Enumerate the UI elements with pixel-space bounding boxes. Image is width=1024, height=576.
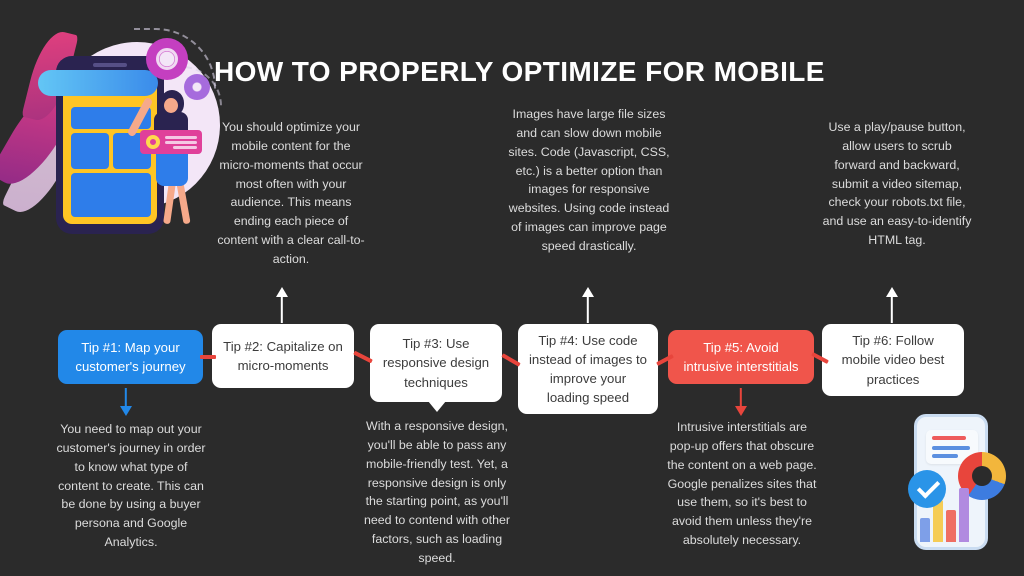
- arrow-head: [582, 287, 594, 297]
- card-line: [932, 454, 958, 458]
- tip-box-5[interactable]: Tip #5: Avoid intrusive interstitials: [668, 330, 814, 384]
- card-line: [165, 141, 197, 144]
- person-face: [164, 98, 178, 113]
- arrow-shaft: [125, 388, 127, 408]
- arrow-head: [120, 406, 132, 416]
- arrow-head: [886, 287, 898, 297]
- arrow-shaft: [587, 295, 589, 323]
- connector-1-2: [200, 355, 216, 359]
- tip-description-4: Images have large file sizes and can slo…: [508, 105, 670, 256]
- tip-box-1[interactable]: Tip #1: Map your customer's journey: [58, 330, 203, 384]
- arrow-up-tip-2: [274, 287, 290, 323]
- arrow-head: [276, 287, 288, 297]
- arrow-shaft: [740, 388, 742, 408]
- tip-description-3: With a responsive design, you'll be able…: [362, 417, 512, 568]
- screen-block: [71, 173, 151, 217]
- search-bar-graphic: [38, 70, 158, 96]
- tip-description-6: Use a play/pause button, allow users to …: [821, 118, 973, 250]
- donut-chart-icon: [146, 135, 160, 149]
- tip-box-4[interactable]: Tip #4: Use code instead of images to im…: [518, 324, 658, 414]
- card-line: [165, 136, 197, 139]
- arrow-up-tip-4: [580, 287, 596, 323]
- phone-speaker: [93, 63, 127, 67]
- bar-chart-bar: [946, 510, 956, 542]
- dashboard-card-icon: [140, 130, 202, 154]
- tip-box-6[interactable]: Tip #6: Follow mobile video best practic…: [822, 324, 964, 396]
- mobile-optimization-illustration: [8, 18, 220, 270]
- arrow-up-tip-6: [884, 287, 900, 323]
- page-title: HOW TO PROPERLY OPTIMIZE FOR MOBILE: [214, 56, 825, 88]
- infographic-canvas: HOW TO PROPERLY OPTIMIZE FOR MOBILE: [0, 0, 1024, 576]
- tip-description-5: Intrusive interstitials are pop-up offer…: [664, 418, 820, 550]
- tip-box-3-tail: [428, 401, 446, 412]
- bar-chart-bar: [959, 488, 969, 542]
- card-line: [932, 446, 970, 450]
- tip-description-1: You need to map out your customer's jour…: [55, 420, 207, 552]
- tip-box-2[interactable]: Tip #2: Capitalize on micro-moments: [212, 324, 354, 388]
- mobile-analytics-illustration: [900, 408, 1012, 560]
- bar-chart-bar: [920, 518, 930, 542]
- gear-icon: [184, 74, 210, 100]
- arrow-head: [735, 406, 747, 416]
- arrow-shaft: [281, 295, 283, 323]
- arrow-shaft: [891, 295, 893, 323]
- checkmark-badge-icon: [908, 470, 946, 508]
- gear-icon: [146, 38, 188, 80]
- screen-block: [71, 133, 109, 169]
- tip-description-2: You should optimize your mobile content …: [213, 118, 369, 269]
- arrow-down-tip-1: [118, 388, 134, 416]
- arrow-down-tip-5: [733, 388, 749, 416]
- card-line: [932, 436, 966, 440]
- tip-box-3[interactable]: Tip #3: Use responsive design techniques: [370, 324, 502, 402]
- card-line: [173, 146, 197, 149]
